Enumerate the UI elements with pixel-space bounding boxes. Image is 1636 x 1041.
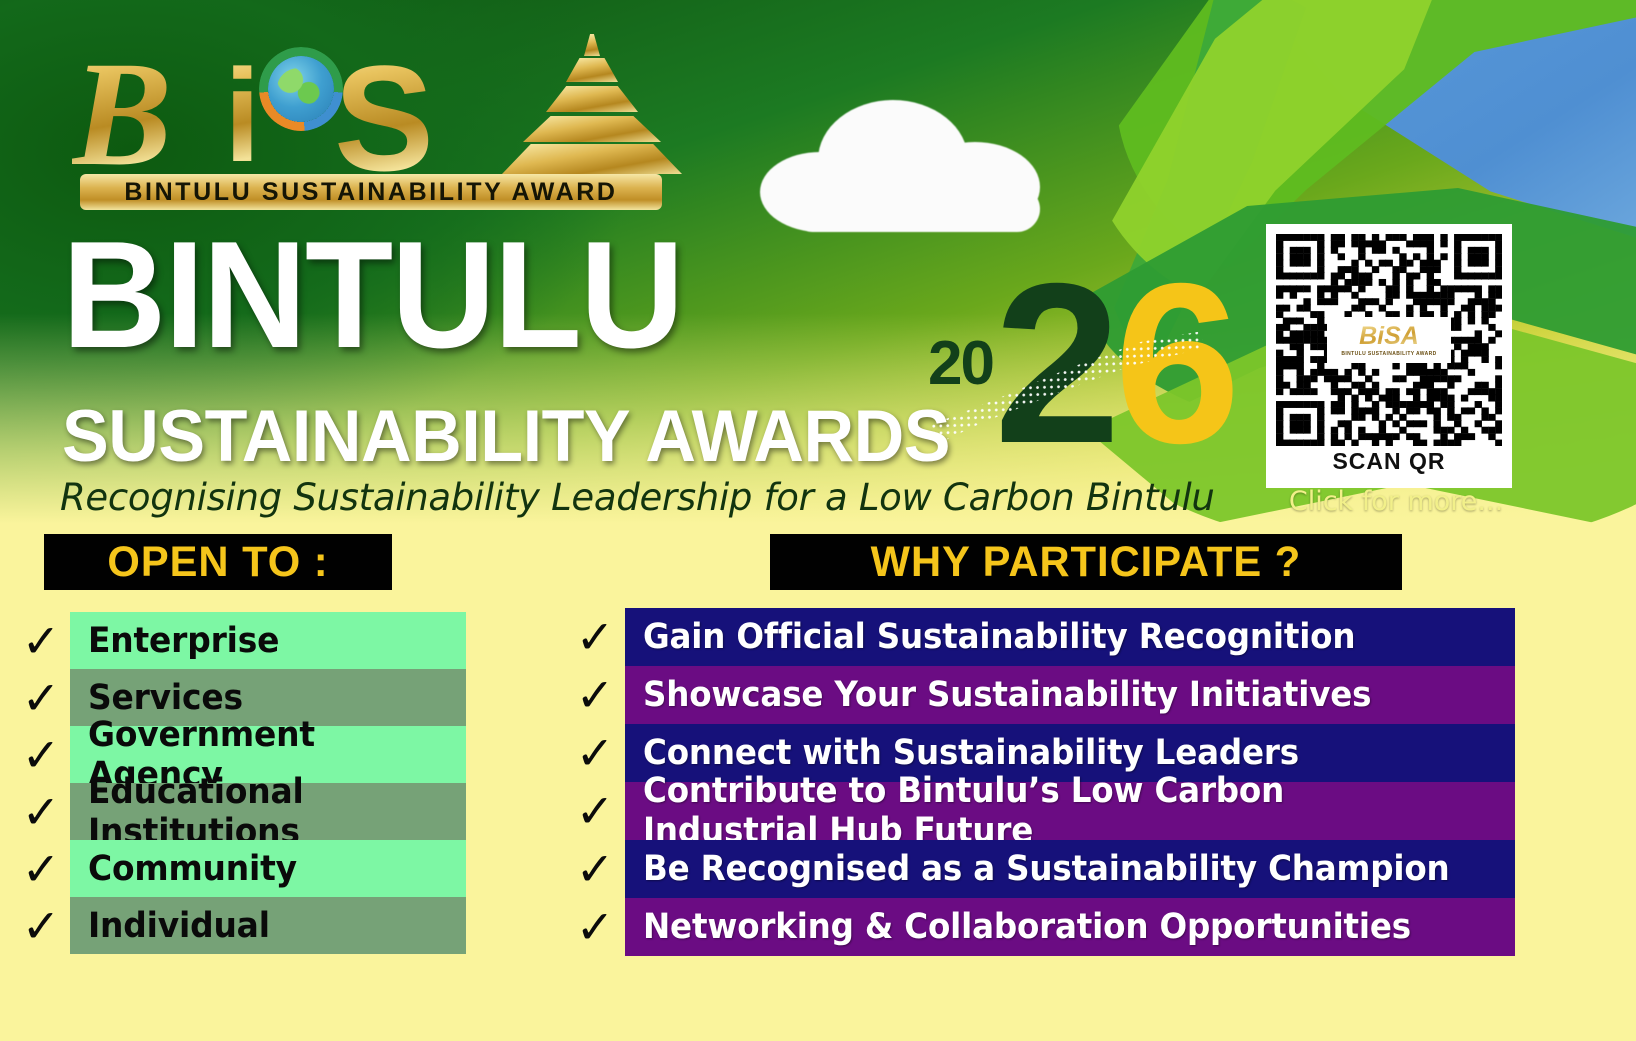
list-item: Community xyxy=(70,840,466,897)
list-item: Gain Official Sustainability Recognition xyxy=(625,608,1515,666)
qr-code-icon[interactable]: BiSA BINTULU SUSTAINABILITY AWARD xyxy=(1276,234,1502,446)
logo-wordmark-text: BINTULU SUSTAINABILITY AWARD xyxy=(124,178,617,207)
qr-code-card[interactable]: BiSA BINTULU SUSTAINABILITY AWARD SCAN Q… xyxy=(1266,224,1512,488)
list-item-label: Enterprise xyxy=(88,621,279,661)
list-item-label: Contribute to Bintulu’s Low Carbon Indus… xyxy=(643,771,1454,851)
list-item-label: Individual xyxy=(88,906,270,946)
list-item: Enterprise xyxy=(70,612,466,669)
open-to-list: EnterpriseServicesGovernment AgencyEduca… xyxy=(70,612,466,954)
check-icon: ✓ xyxy=(18,673,64,723)
cloud-icon xyxy=(760,100,1060,230)
check-icon: ✓ xyxy=(572,670,618,720)
list-item-label: Networking & Collaboration Opportunities xyxy=(643,907,1411,947)
poster-root: B i S BINTULU SUSTAINABILITY AWARD BINTU… xyxy=(0,0,1636,1041)
list-item: Contribute to Bintulu’s Low Carbon Indus… xyxy=(625,782,1515,840)
why-participate-banner-label: WHY PARTICIPATE ? xyxy=(871,538,1301,587)
pagoda-icon xyxy=(502,34,682,174)
list-item: Educational Institutions xyxy=(70,783,466,840)
list-item: Individual xyxy=(70,897,466,954)
bisa-logo: B i S BINTULU SUSTAINABILITY AWARD xyxy=(72,22,672,212)
page-title: BINTULU xyxy=(62,226,682,366)
list-item-label: Showcase Your Sustainability Initiatives xyxy=(643,675,1371,715)
list-item-label: Connect with Sustainability Leaders xyxy=(643,733,1299,773)
list-item: Networking & Collaboration Opportunities xyxy=(625,898,1515,956)
globe-icon xyxy=(268,56,334,122)
why-participate-list: Gain Official Sustainability Recognition… xyxy=(625,608,1515,956)
open-to-banner: OPEN TO : xyxy=(44,534,392,590)
check-icon: ✓ xyxy=(18,844,64,894)
check-icon: ✓ xyxy=(18,787,64,837)
qr-logo-subtext: BINTULU SUSTAINABILITY AWARD xyxy=(1341,351,1436,357)
list-item-label: Be Recognised as a Sustainability Champi… xyxy=(643,849,1450,889)
year-graphic: 6 2 20 xyxy=(918,240,1218,500)
logo-letter-i: i xyxy=(224,40,261,191)
qr-embedded-logo: BiSA BINTULU SUSTAINABILITY AWARD xyxy=(1330,320,1448,360)
qr-caption: SCAN QR xyxy=(1276,448,1502,475)
page-subtitle: SUSTAINABILITY AWARDS xyxy=(62,400,950,473)
check-icon: ✓ xyxy=(18,901,64,951)
list-item: Be Recognised as a Sustainability Champi… xyxy=(625,840,1515,898)
list-item: Showcase Your Sustainability Initiatives xyxy=(625,666,1515,724)
list-item-label: Services xyxy=(88,678,243,718)
open-to-banner-label: OPEN TO : xyxy=(107,538,328,587)
check-icon: ✓ xyxy=(18,730,64,780)
qr-logo-text: BiSA xyxy=(1359,324,1419,349)
list-item-label: Gain Official Sustainability Recognition xyxy=(643,617,1355,657)
why-participate-banner: WHY PARTICIPATE ? xyxy=(770,534,1402,590)
check-icon: ✓ xyxy=(572,612,618,662)
check-icon: ✓ xyxy=(572,902,618,952)
logo-mark: B i S xyxy=(72,22,672,172)
list-item-label: Community xyxy=(88,849,297,889)
check-icon: ✓ xyxy=(572,728,618,778)
qr-click-for-more[interactable]: Click for more... xyxy=(1276,486,1516,517)
check-icon: ✓ xyxy=(572,786,618,836)
logo-wordmark-bar: BINTULU SUSTAINABILITY AWARD xyxy=(80,174,662,210)
check-icon: ✓ xyxy=(18,616,64,666)
year-prefix: 20 xyxy=(928,328,993,399)
check-icon: ✓ xyxy=(572,844,618,894)
